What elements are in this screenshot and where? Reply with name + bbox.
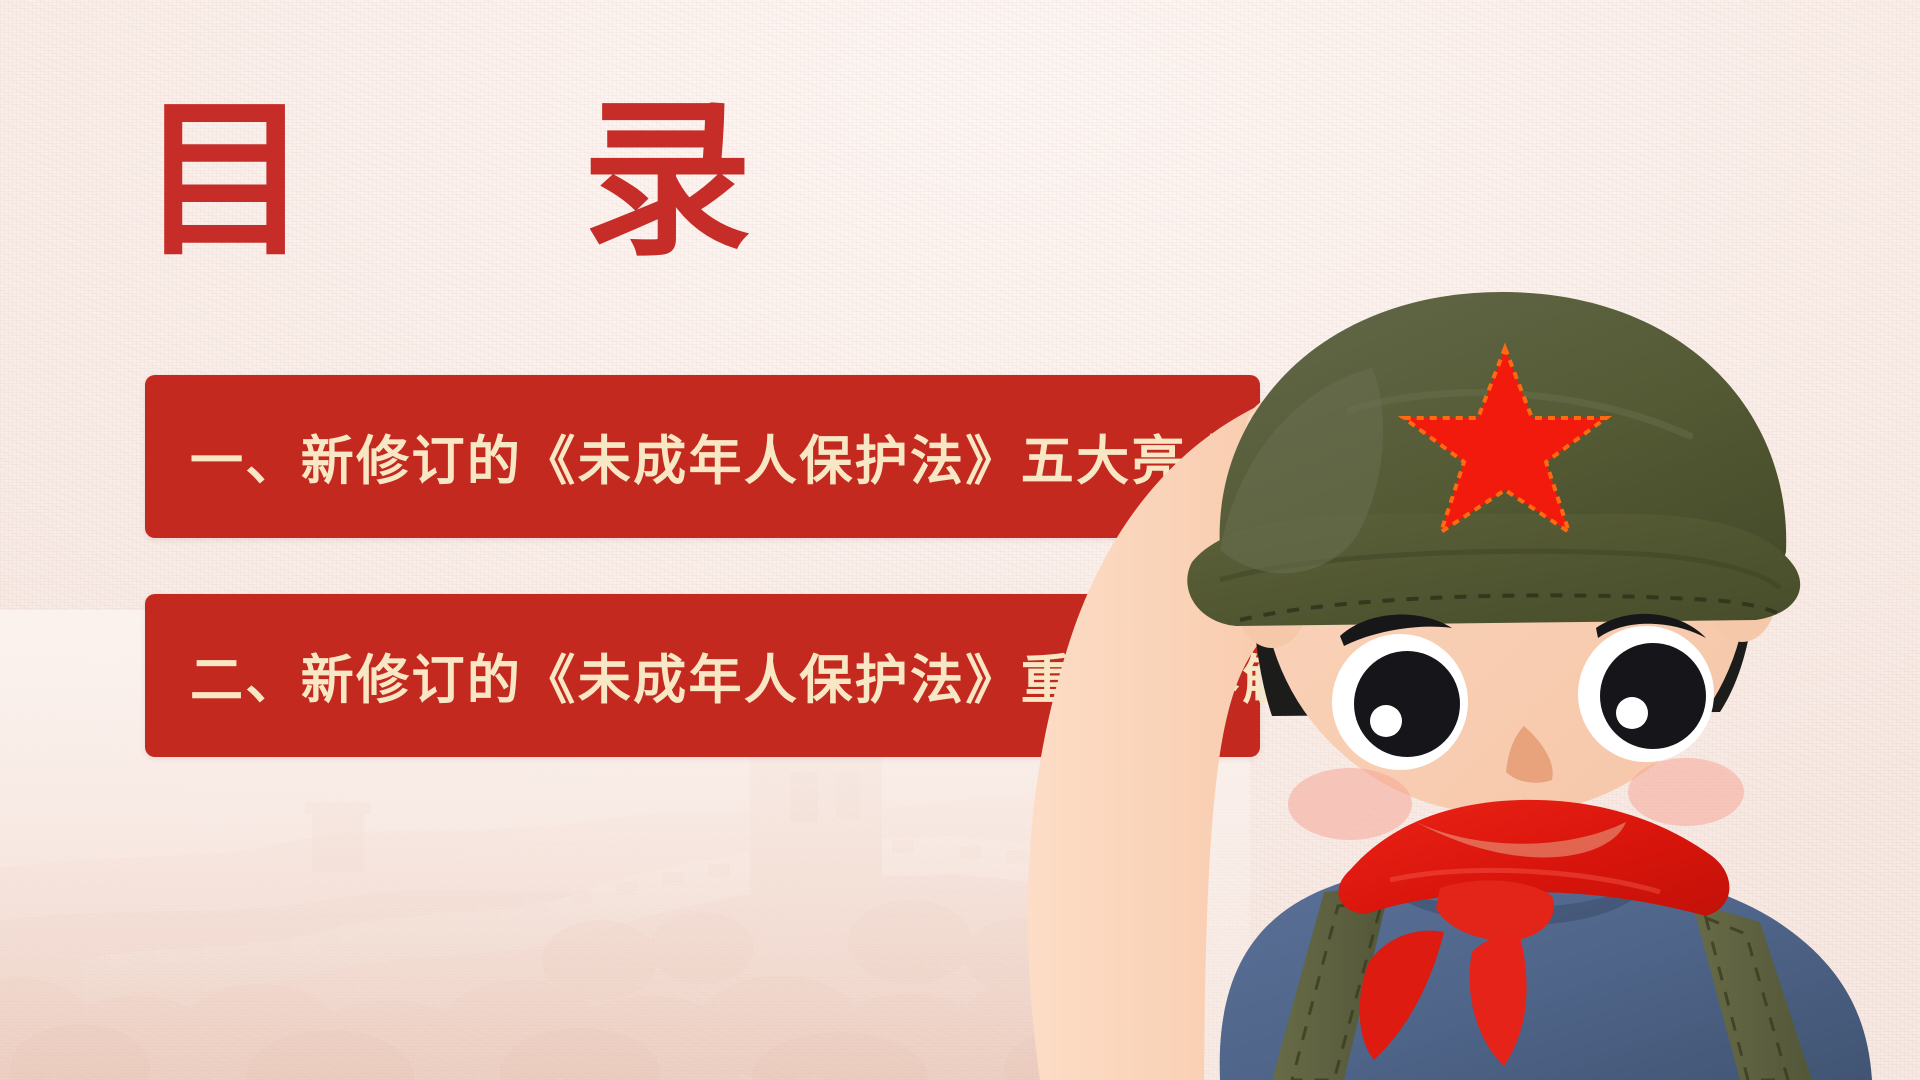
mouth (1520, 825, 1626, 832)
suspender-straps (1272, 886, 1812, 1080)
page-title: 目 录 (140, 96, 803, 266)
nose (1506, 726, 1553, 783)
eyebrows (1340, 614, 1706, 646)
contents-item-1-label: 一、新修订的《未成年人保护法》五大亮点解读 (190, 419, 1353, 495)
body-shirt (1220, 858, 1872, 1080)
cheeks (1288, 758, 1744, 840)
contents-item-1[interactable]: 一、新修订的《未成年人保护法》五大亮点解读 (145, 375, 1260, 538)
slide-canvas: 目 录 一、新修订的《未成年人保护法》五大亮点解读 二、新修订的《未成年人保护法… (0, 0, 1920, 1080)
ears (1236, 550, 1776, 648)
contents-item-2[interactable]: 二、新修订的《未成年人保护法》重点内容解读 (145, 594, 1260, 757)
red-neckerchief (1338, 800, 1729, 1066)
contents-item-2-label: 二、新修订的《未成年人保护法》重点内容解读 (190, 638, 1353, 714)
chin-shadow (1416, 822, 1626, 857)
cap-red-star (1404, 348, 1606, 532)
eyes (1332, 626, 1714, 770)
face (1263, 345, 1747, 815)
